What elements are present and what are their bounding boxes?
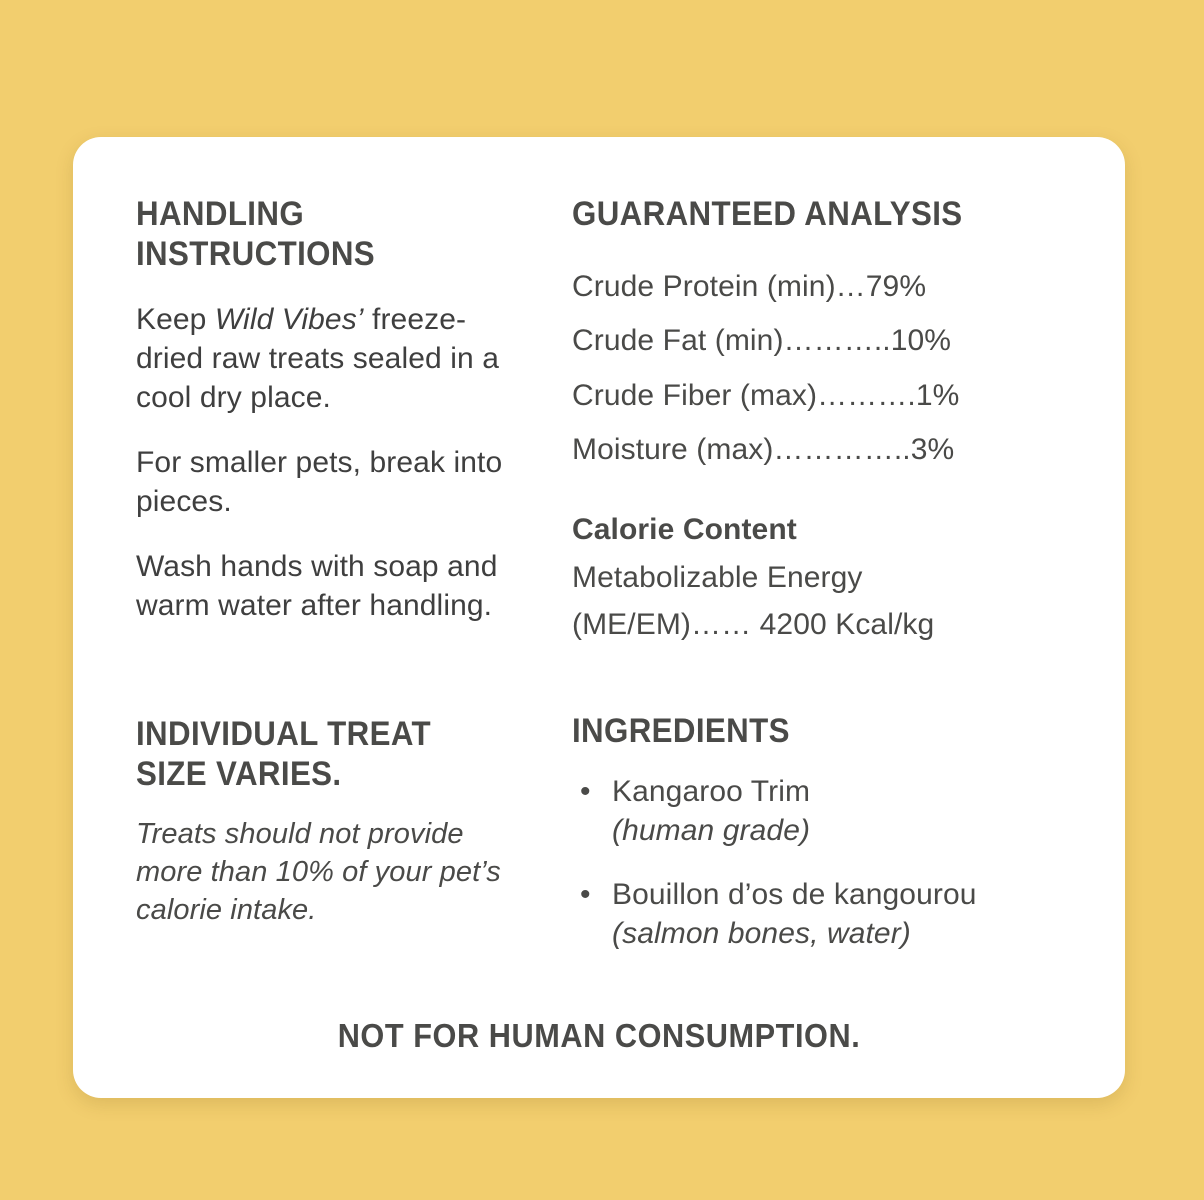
ingredient-detail: (salmon bones, water) — [612, 915, 977, 953]
ingredient-text: Kangaroo Trim (human grade) — [612, 773, 810, 850]
left-column: HANDLING INSTRUCTIONS Keep Wild Vibes’ f… — [73, 137, 528, 953]
handling-storage-prefix: Keep — [136, 303, 215, 336]
product-label-card: HANDLING INSTRUCTIONS Keep Wild Vibes’ f… — [73, 137, 1125, 1098]
calorie-content-value: Metabolizable Energy (ME/EM)…… 4200 Kcal… — [572, 555, 1085, 648]
treat-size-note: Treats should not provide more than 10% … — [136, 816, 528, 929]
ingredients-list: • Kangaroo Trim (human grade) • Bouillon… — [572, 773, 1085, 953]
list-item: • Kangaroo Trim (human grade) — [572, 773, 1085, 850]
ingredient-name: Kangaroo Trim — [612, 775, 810, 808]
bullet-icon: • — [572, 876, 612, 953]
right-column: GUARANTEED ANALYSIS Crude Protein (min)…… — [528, 137, 1125, 953]
brand-name-emphasis: Wild Vibes’ — [215, 303, 364, 336]
analysis-row-crude-fat: Crude Fat (min)………..10% — [572, 314, 1085, 368]
guaranteed-analysis-heading: GUARANTEED ANALYSIS — [572, 194, 1044, 234]
label-columns: HANDLING INSTRUCTIONS Keep Wild Vibes’ f… — [73, 137, 1125, 953]
ingredients-heading: INGREDIENTS — [572, 711, 1044, 751]
treat-size-heading: INDIVIDUAL TREAT SIZE VARIES. — [136, 714, 497, 794]
left-column-spacer — [136, 651, 528, 714]
handling-paragraph-wash-hands: Wash hands with soap and warm water afte… — [136, 547, 528, 625]
handling-instructions-heading: HANDLING INSTRUCTIONS — [136, 194, 497, 274]
guaranteed-analysis-list: Crude Protein (min)…79% Crude Fat (min)…… — [572, 260, 1085, 477]
list-item: • Bouillon d’os de kangourou (salmon bon… — [572, 876, 1085, 953]
analysis-row-crude-protein: Crude Protein (min)…79% — [572, 260, 1085, 314]
bullet-icon: • — [572, 773, 612, 850]
ingredient-name: Bouillon d’os de kangourou — [612, 878, 977, 911]
ingredient-text: Bouillon d’os de kangourou (salmon bones… — [612, 876, 977, 953]
calorie-content-title: Calorie Content — [572, 513, 1085, 547]
analysis-row-crude-fiber: Crude Fiber (max)……….1% — [572, 369, 1085, 423]
analysis-row-moisture: Moisture (max)…………..3% — [572, 423, 1085, 477]
ingredient-detail: (human grade) — [612, 812, 810, 850]
right-column-spacer — [572, 648, 1085, 711]
not-for-human-consumption-warning: NOT FOR HUMAN CONSUMPTION. — [110, 1017, 1088, 1055]
handling-paragraph-smaller-pets: For smaller pets, break into pieces. — [136, 443, 528, 521]
handling-paragraph-storage: Keep Wild Vibes’ freeze-dried raw treats… — [136, 300, 528, 417]
